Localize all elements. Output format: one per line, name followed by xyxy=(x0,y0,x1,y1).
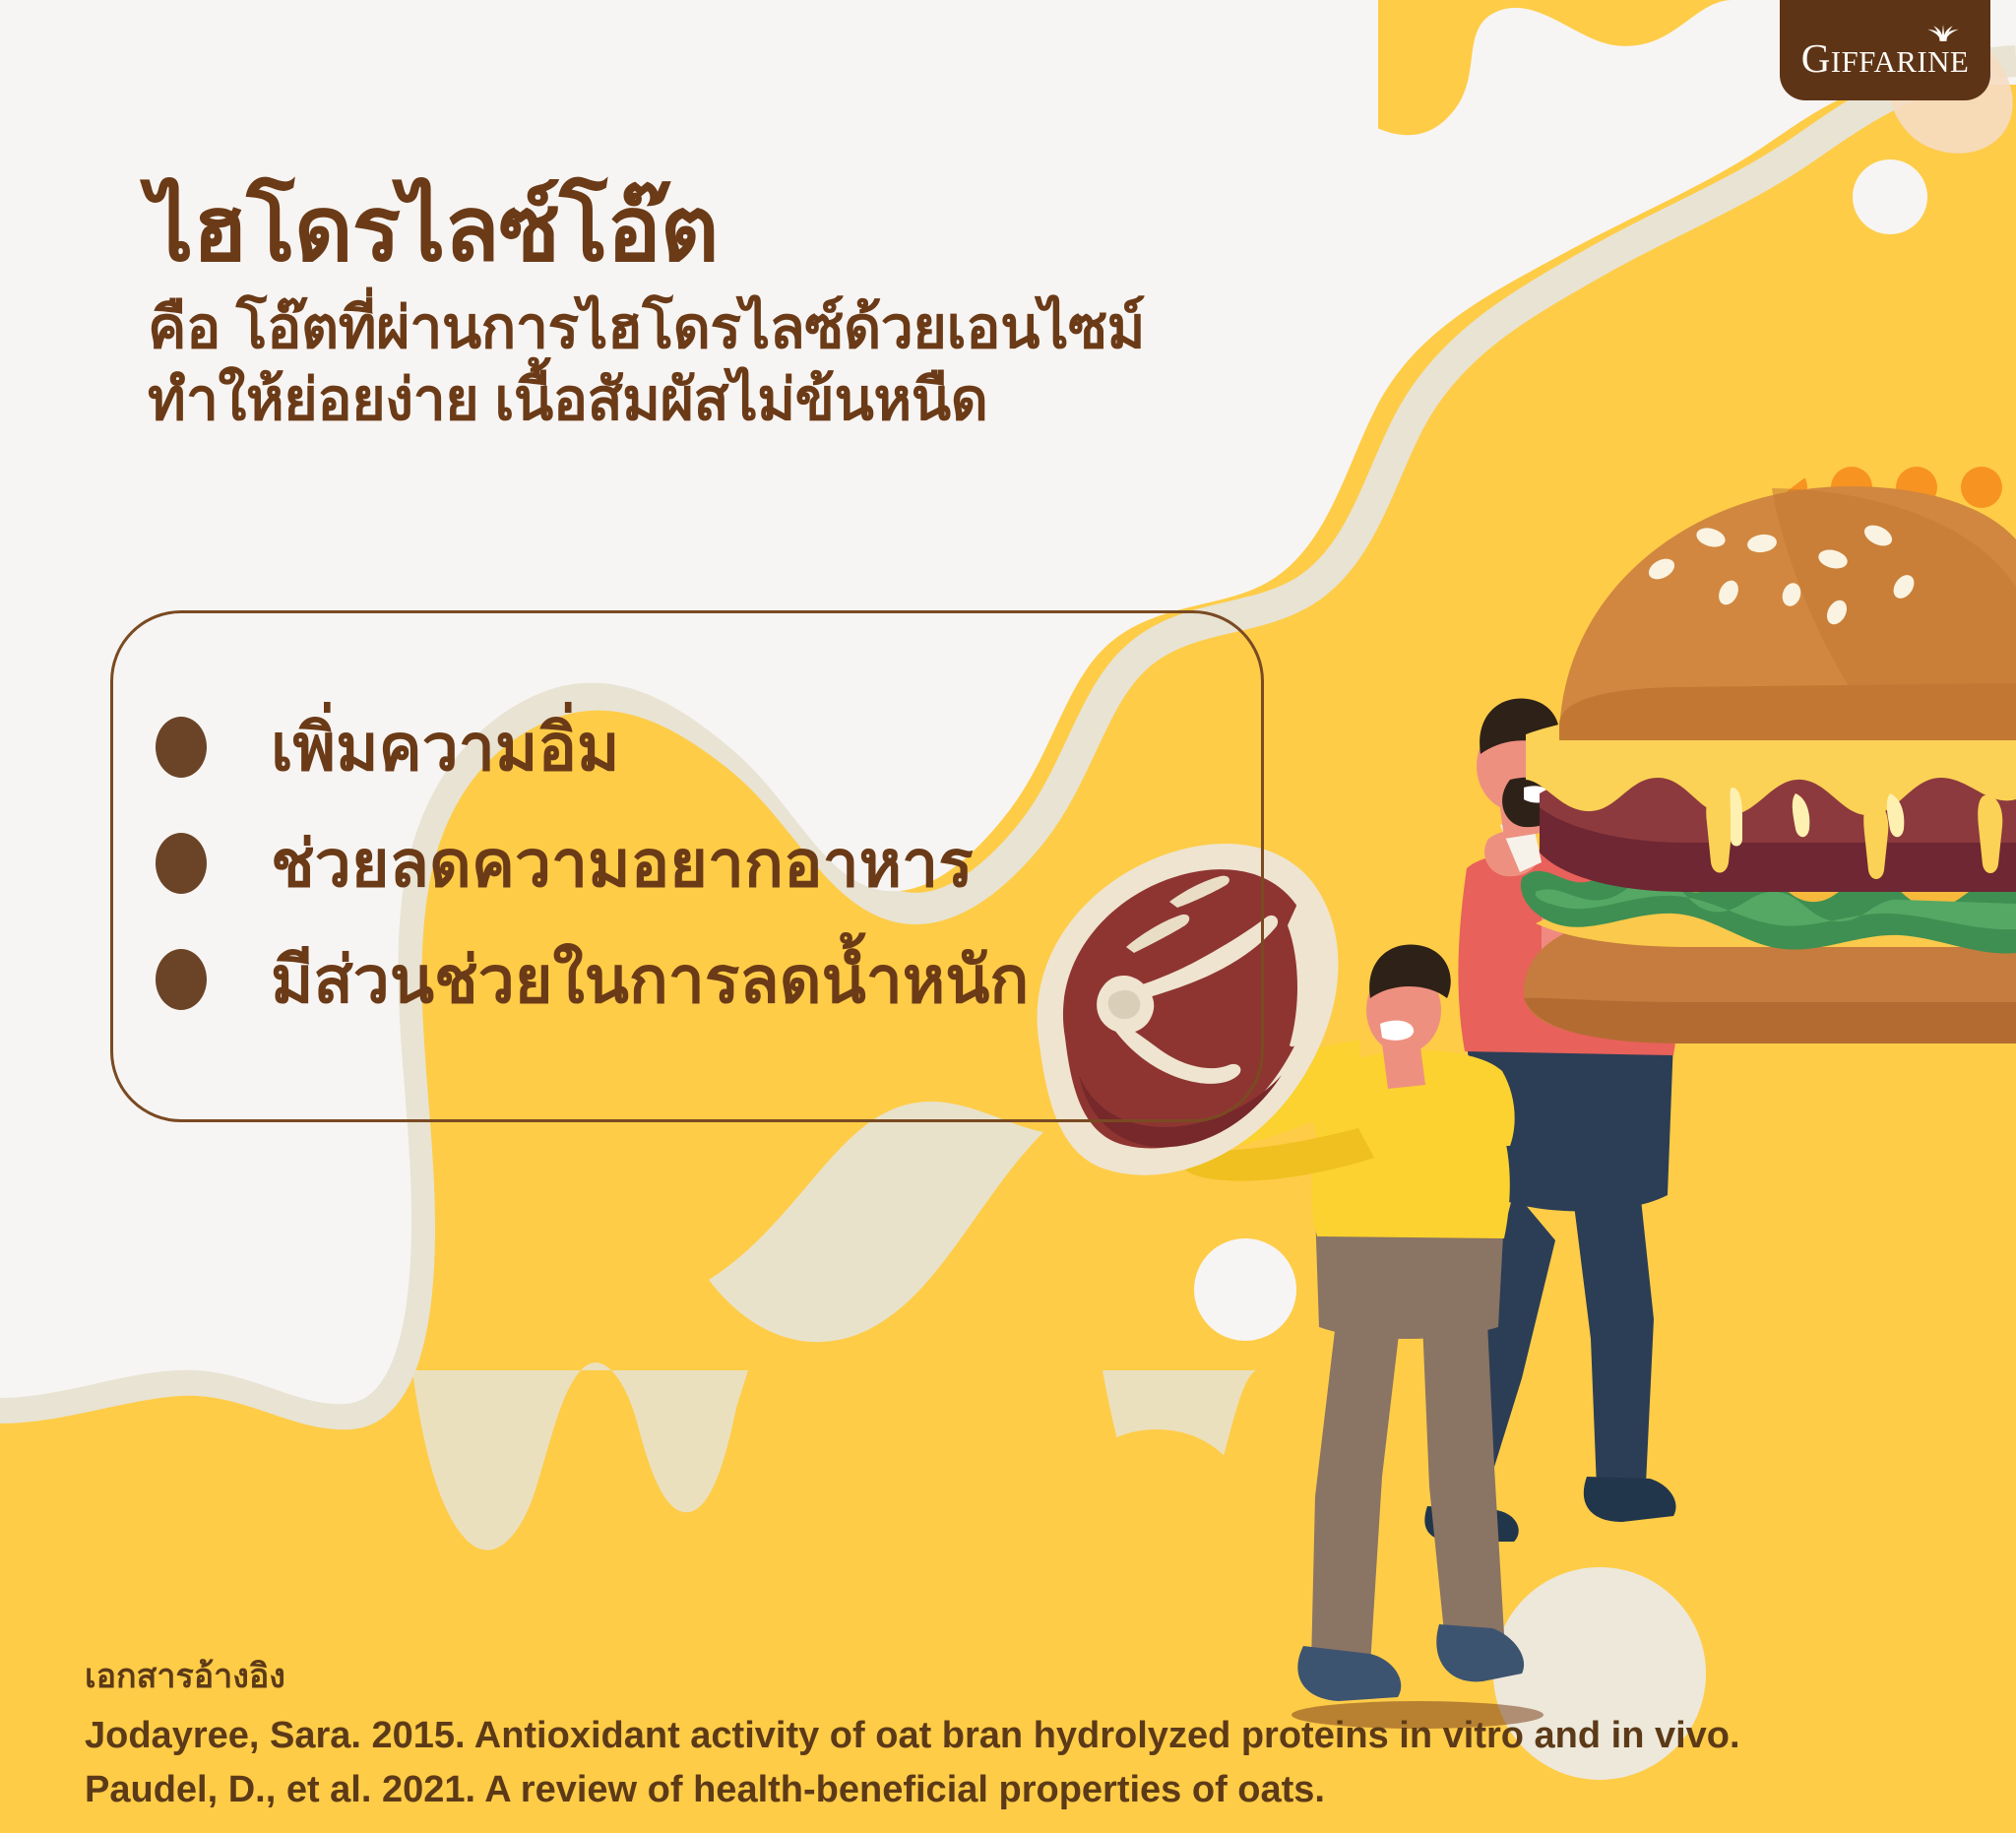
headline-block: ไฮโดรไลซ์โอ๊ต คือ โอ๊ตที่ผ่านการไฮโดรไลซ… xyxy=(148,182,1378,436)
logo-name: IFFARINE xyxy=(1831,44,1969,79)
list-item: มีส่วนช่วยในการลดน้ำหนัก xyxy=(156,921,1029,1038)
logo-wrap: GIFFARINE xyxy=(1801,38,1969,79)
leaf-ornament-icon xyxy=(1925,25,1961,42)
decorative-circle xyxy=(1276,1067,1303,1095)
list-item: ช่วยลดความอยากอาหาร xyxy=(156,805,1029,921)
decorative-circle xyxy=(1853,159,1927,234)
list-item: เพิ่มความอิ่ม xyxy=(156,689,1029,805)
bullet-dot-icon xyxy=(156,833,207,894)
reference-line: Paudel, D., et al. 2021. A review of hea… xyxy=(85,1763,1740,1817)
benefit-label: ช่วยลดความอยากอาหาร xyxy=(271,831,974,896)
benefits-list: เพิ่มความอิ่ม ช่วยลดความอยากอาหาร มีส่วน… xyxy=(156,689,1029,1038)
infographic-poster: GIFFARINE ไฮโดรไลซ์โอ๊ต คือ โอ๊ตที่ผ่านก… xyxy=(0,0,2016,1833)
decorative-circle xyxy=(1194,1238,1296,1341)
benefit-label: มีส่วนช่วยในการลดน้ำหนัก xyxy=(271,947,1029,1012)
benefit-label: เพิ่มความอิ่ม xyxy=(271,715,620,780)
subtitle-line-2: ทำให้ย่อยง่าย เนื้อสัมผัสไม่ข้นหนืด xyxy=(148,364,1378,436)
bullet-dot-icon xyxy=(156,717,207,778)
giffarine-logo-badge[interactable]: GIFFARINE xyxy=(1780,0,1990,100)
subtitle-line-1: คือ โอ๊ตที่ผ่านการไฮโดรไลซ์ด้วยเอนไซม์ xyxy=(148,292,1378,364)
references-block: เอกสารอ้างอิง Jodayree, Sara. 2015. Anti… xyxy=(85,1652,1740,1817)
logo-text: GIFFARINE xyxy=(1801,38,1969,79)
logo-initial: G xyxy=(1801,35,1831,81)
references-heading: เอกสารอ้างอิง xyxy=(85,1652,1740,1702)
reference-line: Jodayree, Sara. 2015. Antioxidant activi… xyxy=(85,1709,1740,1763)
page-title: ไฮโดรไลซ์โอ๊ต xyxy=(148,182,1378,279)
bullet-dot-icon xyxy=(156,949,207,1010)
